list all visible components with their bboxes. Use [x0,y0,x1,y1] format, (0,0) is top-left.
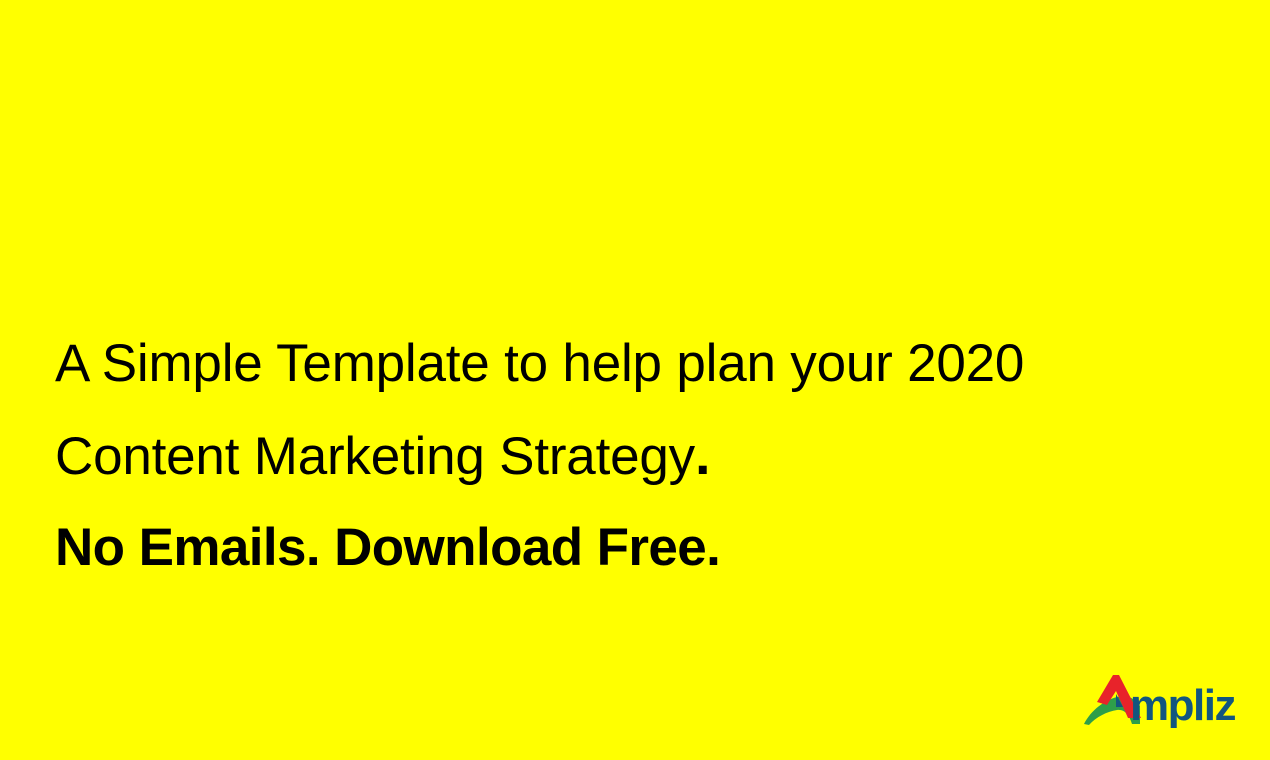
headline-line-3: No Emails. Download Free. [55,502,1215,593]
slide-canvas: A Simple Template to help plan your 2020… [0,0,1270,760]
headline-line-2: Content Marketing Strategy. [55,409,1215,502]
logo-wordmark: mpliz [1130,681,1235,728]
ampliz-logo: mpliz [1083,672,1245,728]
headline-line-2-period: . [695,423,710,486]
headline-block: A Simple Template to help plan your 2020… [55,318,1215,593]
headline-line-1: A Simple Template to help plan your 2020 [55,318,1215,409]
headline-line-2-text: Content Marketing Strategy [55,427,695,486]
ampliz-logo-svg: mpliz [1083,672,1245,728]
